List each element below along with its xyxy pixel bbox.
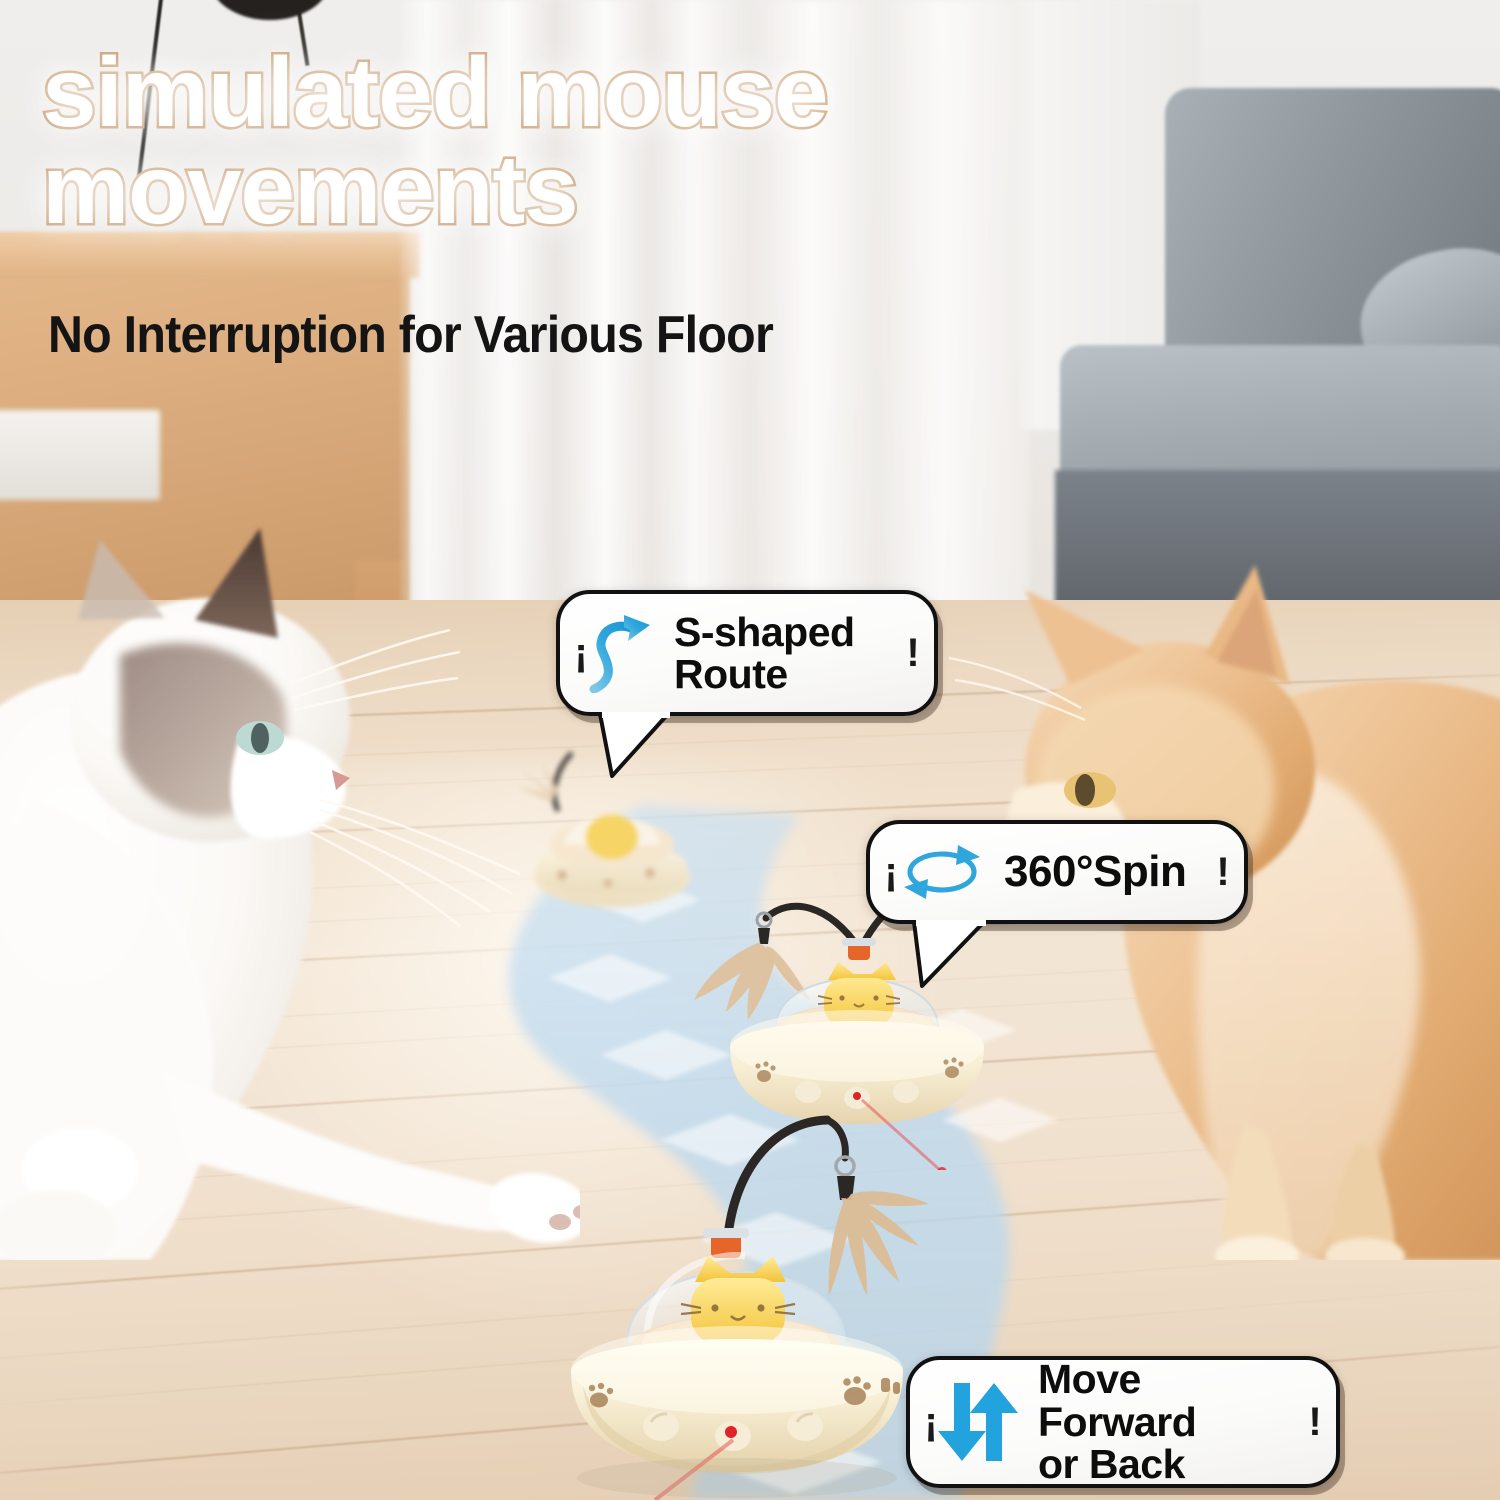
callout-s-shaped-route[interactable]: ¡ S-shaped Route ! <box>556 590 938 716</box>
callout-move-forward-or-back[interactable]: ¡ Move Forward or Back ! <box>906 1356 1340 1488</box>
circular-rotation-arrow-icon <box>898 843 986 901</box>
speech-bubble-tail <box>594 712 684 782</box>
right-tick-mark: ! <box>906 633 920 673</box>
right-tick-mark: ! <box>1308 1402 1322 1442</box>
callout-label: 360°Spin <box>986 850 1216 894</box>
left-tick-mark: ¡ <box>924 1402 938 1442</box>
callout-360-spin[interactable]: ¡ 360°Spin ! <box>866 820 1248 924</box>
right-tick-mark: ! <box>1216 852 1230 892</box>
speech-bubble-tail <box>908 920 998 992</box>
ragdoll-cat <box>0 470 580 1260</box>
left-tick-mark: ¡ <box>574 633 588 673</box>
page-subtitle: No Interruption for Various Floor <box>48 305 1071 365</box>
s-curve-arrow-icon <box>588 613 658 693</box>
callout-label: S-shaped Route <box>658 611 906 695</box>
page-headline: simulated mouse movements <box>42 44 1222 238</box>
left-tick-mark: ¡ <box>884 852 898 892</box>
up-down-arrows-icon <box>938 1379 1022 1465</box>
callout-label: Move Forward or Back <box>1022 1358 1308 1486</box>
product-marketing-image: ¡ S-shaped Route ! ¡ <box>0 0 1500 1500</box>
